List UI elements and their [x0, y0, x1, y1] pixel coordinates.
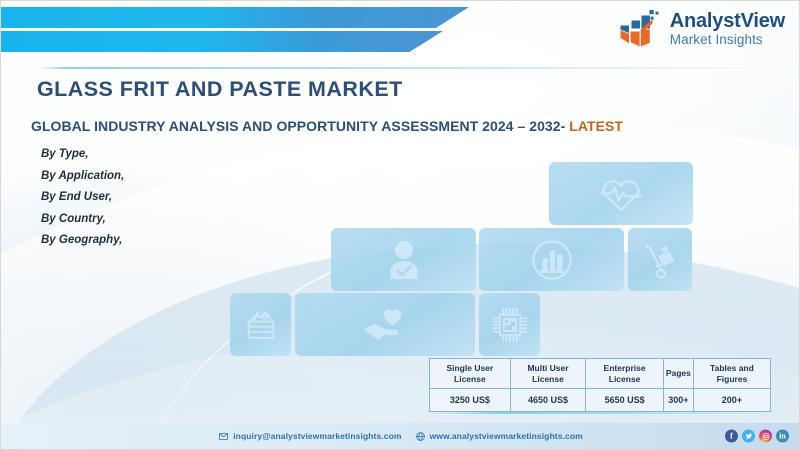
tile-consumer [331, 228, 476, 291]
hand-heart-icon [361, 305, 409, 344]
chart-circle-icon [531, 239, 573, 281]
pricing-table-underline [427, 412, 775, 414]
twitter-icon[interactable] [742, 430, 755, 443]
linkedin-icon[interactable]: in [776, 430, 789, 443]
facebook-icon[interactable]: f [725, 430, 738, 443]
food-crate-icon [243, 307, 279, 343]
footer-email[interactable]: inquiry@analystviewmarketinsights.com [233, 431, 401, 441]
hand-truck-icon [641, 241, 679, 279]
heartbeat-icon [599, 174, 643, 214]
table-header-cell: Single User License [430, 359, 511, 389]
tile-analytics [479, 228, 624, 291]
table-cell-price-single: 3250 US$ [430, 389, 511, 412]
footer-contact: inquiry@analystviewmarketinsights.com ww… [219, 431, 583, 441]
report-cover-slide: AnalystView Market Insights GLASS FRIT A… [0, 0, 800, 450]
table-row-header: Single User License Multi User License E… [430, 359, 771, 389]
table-header-cell: Tables and Figures [693, 359, 770, 389]
table-header-cell: Pages [663, 359, 693, 389]
microchip-icon [492, 307, 528, 343]
table-row: 3250 US$ 4650 US$ 5650 US$ 300+ 200+ [430, 389, 771, 412]
pricing-table: Single User License Multi User License E… [429, 358, 771, 412]
envelope-icon [219, 432, 228, 441]
social-links: f in [725, 430, 789, 443]
person-check-icon [385, 240, 423, 280]
table-cell-tables-figures: 200+ [693, 389, 770, 412]
table-header-cell: Multi User License [510, 359, 586, 389]
footer-website[interactable]: www.analystviewmarketinsights.com [430, 431, 583, 441]
table-cell-price-multi: 4650 US$ [510, 389, 586, 412]
tile-healthcare [549, 162, 693, 225]
tile-food [230, 293, 291, 356]
tile-semiconductor [479, 293, 540, 356]
footer-bar: inquiry@analystviewmarketinsights.com ww… [1, 423, 800, 449]
table-header-cell: Enterprise License [586, 359, 664, 389]
table-cell-pages: 300+ [663, 389, 693, 412]
tile-logistics [628, 228, 692, 291]
globe-icon [416, 432, 425, 441]
table-cell-price-enterprise: 5650 US$ [586, 389, 664, 412]
tile-care [295, 293, 475, 356]
instagram-icon[interactable] [759, 430, 772, 443]
